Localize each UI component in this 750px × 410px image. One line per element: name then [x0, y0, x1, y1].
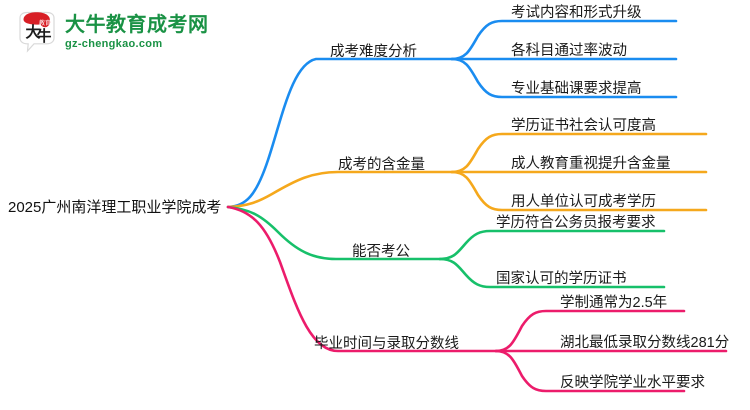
leaf-node[interactable]: 各科目通过率波动 [511, 44, 627, 59]
leaf-node[interactable]: 成人教育重视提升含金量 [511, 157, 671, 172]
leaf-node[interactable]: 湖北最低录取分数线281分 [560, 336, 729, 351]
leaf-node[interactable]: 用人单位认可成考学历 [511, 195, 656, 210]
branch-node-value[interactable]: 成考的含金量 [338, 158, 425, 173]
branch-node-exam-difficulty[interactable]: 成考难度分析 [330, 45, 417, 60]
leaf-node[interactable]: 学制通常为2.5年 [560, 296, 667, 311]
leaf-node[interactable]: 考试内容和形式升级 [511, 6, 642, 21]
leaf-node[interactable]: 反映学院学业水平要求 [560, 376, 705, 391]
mindmap-page: 大 牛 教育 大牛教育成考网 gz-chengkao.com [0, 0, 750, 410]
branch-node-civil-service[interactable]: 能否考公 [352, 245, 410, 260]
leaf-node[interactable]: 学历符合公务员报考要求 [496, 216, 656, 231]
leaf-node[interactable]: 学历证书社会认可度高 [511, 119, 656, 134]
root-node[interactable]: 2025广州南洋理工职业学院成考 [8, 200, 221, 215]
leaf-node[interactable]: 专业基础课要求提高 [511, 82, 642, 97]
leaf-node[interactable]: 国家认可的学历证书 [496, 272, 627, 287]
branch-node-graduation-score[interactable]: 毕业时间与录取分数线 [314, 337, 459, 352]
